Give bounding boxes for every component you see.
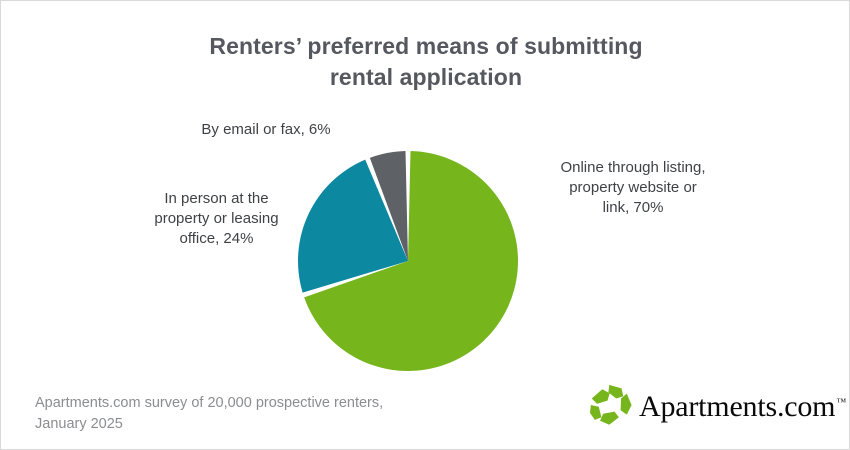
source-note-line-2: January 2025 <box>35 414 455 435</box>
page-title-line-1: Renters’ preferred means of submitting <box>1 31 850 62</box>
online-label-line-3: link, 70% <box>523 198 743 218</box>
pie-chart-svg <box>298 151 518 371</box>
chart-canvas: Renters’ preferred means of submitting r… <box>0 0 850 450</box>
page-title-line-2: rental application <box>1 62 850 93</box>
online-label-line-2: property website or <box>523 178 743 198</box>
in-person-label-line-2: property or leasing <box>129 209 304 229</box>
in-person-label-line-1: In person at the <box>129 189 304 209</box>
email-fax-label-line-1: By email or fax, 6% <box>201 121 330 138</box>
trademark-symbol: ™ <box>836 397 846 408</box>
source-note-line-1: Apartments.com survey of 20,000 prospect… <box>35 393 455 414</box>
page-title: Renters’ preferred means of submitting r… <box>1 31 850 93</box>
source-note: Apartments.com survey of 20,000 prospect… <box>35 393 455 435</box>
logo-wordmark-text: Apartments.com <box>639 390 835 423</box>
in-person-slice-label: In person at the property or leasing off… <box>129 189 304 249</box>
email-fax-slice-label: By email or fax, 6% <box>151 120 381 140</box>
online-label-line-1: Online through listing, <box>523 158 743 178</box>
apartments-dot-com-logo[interactable]: Apartments.com™ <box>589 381 846 429</box>
pie-chart <box>298 151 518 371</box>
online-slice-label: Online through listing, property website… <box>523 158 743 218</box>
in-person-label-line-3: office, 24% <box>129 229 304 249</box>
pie-slices <box>298 151 518 371</box>
logo-wordmark: Apartments.com™ <box>639 388 846 422</box>
apartments-pinwheel-icon <box>589 384 633 426</box>
